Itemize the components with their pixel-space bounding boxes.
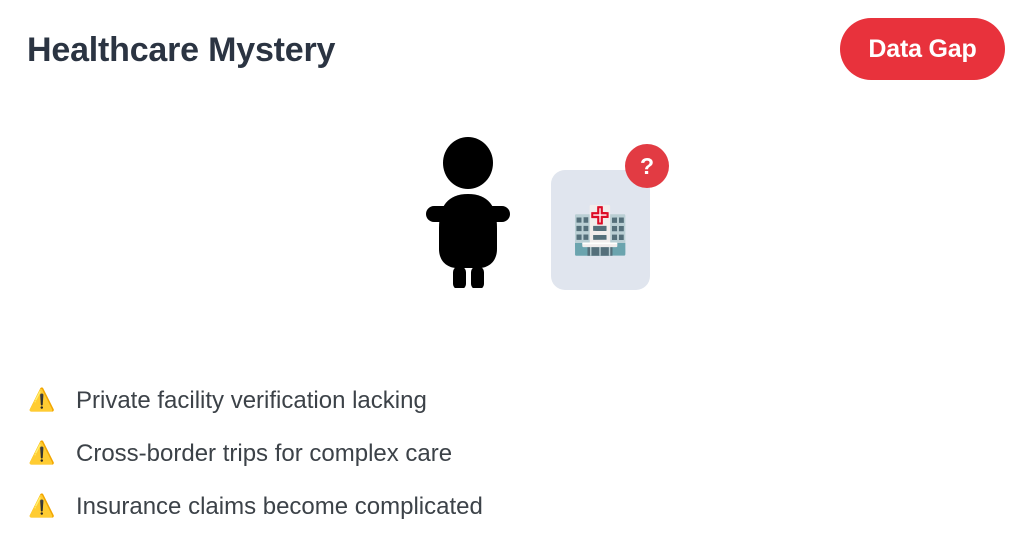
slide-canvas: Healthcare Mystery Data Gap 🏥 ? ⚠️ Priva… xyxy=(0,0,1024,552)
warning-triangle-icon: ⚠️ xyxy=(28,441,54,467)
hospital-icon: 🏥 xyxy=(551,170,650,290)
status-badge[interactable]: Data Gap xyxy=(840,18,1005,80)
warning-triangle-icon: ⚠️ xyxy=(28,494,54,520)
warning-triangle-icon: ⚠️ xyxy=(28,388,54,414)
list-item: ⚠️ Private facility verification lacking xyxy=(28,381,728,421)
list-item-label: Cross-border trips for complex care xyxy=(76,439,452,469)
list-item: ⚠️ Insurance claims become complicated xyxy=(28,487,728,527)
list-item-label: Insurance claims become complicated xyxy=(76,492,483,522)
illustration-area: 🏥 ? xyxy=(0,130,1024,310)
unknown-question-badge: ? xyxy=(625,144,669,188)
person-silhouette-icon xyxy=(423,136,513,288)
issue-list: ⚠️ Private facility verification lacking… xyxy=(28,381,728,540)
list-item: ⚠️ Cross-border trips for complex care xyxy=(28,434,728,474)
facility-card[interactable]: 🏥 ? xyxy=(551,170,650,290)
page-title: Healthcare Mystery xyxy=(27,28,335,72)
list-item-label: Private facility verification lacking xyxy=(76,386,427,416)
